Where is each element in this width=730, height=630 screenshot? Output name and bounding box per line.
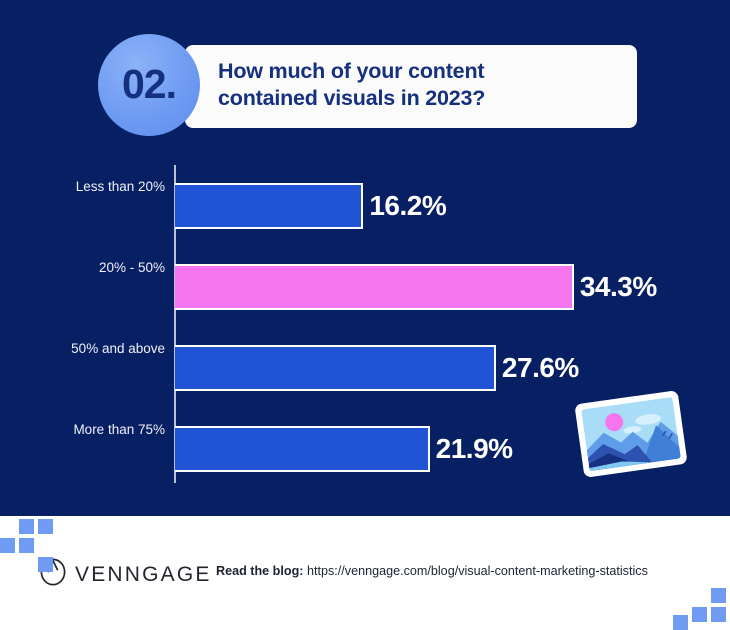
bar-value-0: 16.2% (369, 190, 446, 222)
step-number-label: 02. (122, 61, 176, 108)
category-label-1: 20% - 50% (0, 260, 165, 275)
infographic-canvas: How much of your content contained visua… (0, 0, 730, 630)
category-labels: Less than 20% 20% - 50% 50% and above Mo… (0, 165, 165, 483)
page-title: How much of your content contained visua… (218, 58, 618, 112)
bar-1 (175, 264, 574, 310)
bar-value-2: 27.6% (502, 352, 579, 384)
venngage-logo-text: VENNGAGE (75, 563, 212, 587)
category-label-0: Less than 20% (0, 179, 165, 194)
category-label-2: 50% and above (0, 341, 165, 356)
blog-link-line[interactable]: Read the blog: https://venngage.com/blog… (216, 564, 648, 578)
venngage-logo[interactable]: VENNGAGE (40, 558, 212, 591)
bar-2 (175, 345, 496, 391)
bar-value-1: 34.3% (580, 271, 657, 303)
step-number-badge: 02. (98, 34, 200, 136)
category-label-3: More than 75% (0, 422, 165, 437)
image-thumbnail-icon (573, 389, 689, 479)
bar-3 (175, 426, 430, 472)
blog-url[interactable]: https://venngage.com/blog/visual-content… (307, 564, 648, 578)
bar-0 (175, 183, 363, 229)
bar-value-3: 21.9% (436, 433, 513, 465)
blog-label: Read the blog: (216, 564, 303, 578)
